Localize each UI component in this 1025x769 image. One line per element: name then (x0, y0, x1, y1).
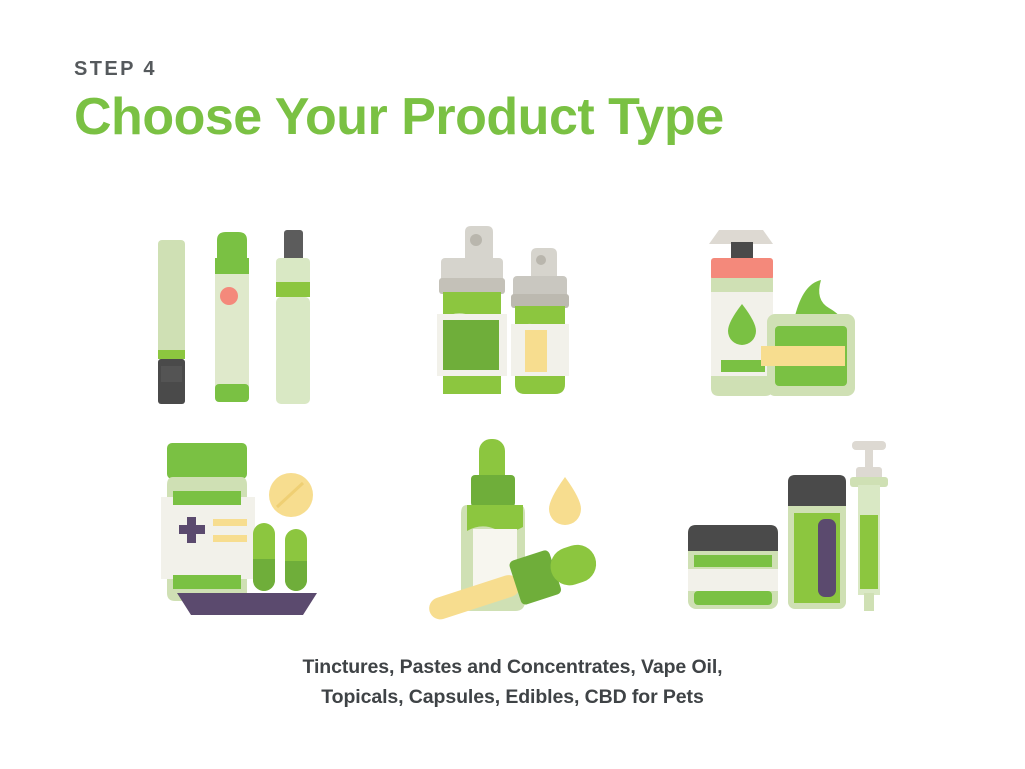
vape-pens-illustration (145, 218, 345, 408)
icon-topicals (650, 205, 920, 420)
tin-lid (688, 525, 778, 551)
jar-label (761, 346, 845, 366)
bottle-cap (167, 443, 247, 479)
product-type-icon-grid (110, 205, 920, 635)
pump-collar (711, 258, 773, 280)
tray-icon (177, 593, 317, 615)
caption-line-2: Topicals, Capsules, Edibles, CBD for Pet… (0, 682, 1025, 712)
tablet-icon (269, 473, 313, 517)
slim-vape-pen-icon (158, 240, 185, 404)
capsule-pair-icon (253, 523, 307, 591)
tincture-illustration (415, 433, 615, 623)
pet-products-illustration (680, 433, 890, 623)
capsules-illustration (145, 433, 345, 623)
tube-cap (788, 475, 846, 506)
large-spray-bottle-icon (437, 226, 507, 394)
oil-droplet-icon (549, 477, 581, 525)
spray-bottles-illustration (415, 218, 615, 408)
power-button-icon (220, 287, 238, 305)
pet-tin-icon (688, 525, 778, 609)
page-title: Choose Your Product Type (74, 88, 934, 146)
cream-jar-icon (761, 280, 855, 396)
icon-spray-bottles (380, 205, 650, 420)
slide-root: STEP 4 Choose Your Product Type (0, 0, 1025, 769)
step-label: STEP 4 (74, 58, 934, 80)
caption-line-1: Tinctures, Pastes and Concentrates, Vape… (0, 652, 1025, 682)
bottle-cap (471, 475, 515, 507)
icon-vape-pens (110, 205, 380, 420)
pet-tube-icon (788, 475, 846, 609)
lotion-pump-bottle-icon (709, 230, 773, 396)
bottle-label (443, 320, 499, 370)
icon-pet-products (650, 420, 920, 635)
caption: Tinctures, Pastes and Concentrates, Vape… (0, 652, 1025, 712)
tip-vape-pen-icon (276, 230, 310, 404)
icon-tincture-dropper (380, 420, 650, 635)
pet-syringe-icon (850, 441, 888, 611)
slide-header: STEP 4 Choose Your Product Type (74, 58, 934, 146)
icon-capsules (110, 420, 380, 635)
pill-bottle-icon (161, 443, 255, 601)
topicals-illustration (685, 218, 885, 408)
button-vape-pen-icon (215, 232, 249, 402)
bottle-label (525, 330, 547, 372)
small-spray-bottle-icon (511, 248, 569, 394)
